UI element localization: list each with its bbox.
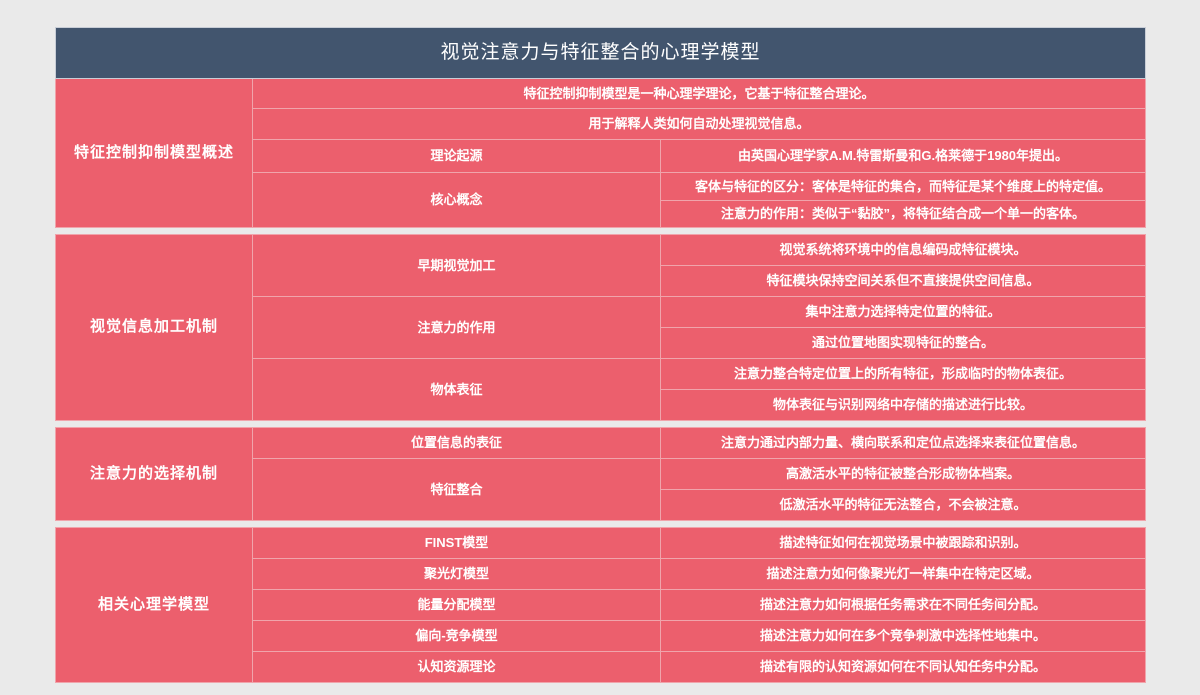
section-1-subtopic-1: 注意力的作用 xyxy=(253,297,661,359)
table-row: 视觉信息加工机制 早期视觉加工 视觉系统将环境中的信息编码成特征模块。 xyxy=(56,235,1146,266)
section-gap xyxy=(56,228,1146,235)
section-1-subtopic-0: 早期视觉加工 xyxy=(253,235,661,297)
section-3-subtopic-0: FINST模型 xyxy=(253,528,661,559)
section-0-row-0-desc: 特征控制抑制模型是一种心理学理论，它基于特征整合理论。 xyxy=(253,79,1146,109)
table-title-row: 视觉注意力与特征整合的心理学模型 xyxy=(56,28,1146,79)
section-1-row-0-desc-1: 特征模块保持空间关系但不直接提供空间信息。 xyxy=(661,266,1146,297)
section-0-row-3-desc-1: 注意力的作用：类似于“黏胶”，将特征结合成一个单一的客体。 xyxy=(661,201,1146,228)
section-category-2: 注意力的选择机制 xyxy=(56,428,253,521)
section-2-subtopic-1: 特征整合 xyxy=(253,459,661,521)
table-title: 视觉注意力与特征整合的心理学模型 xyxy=(56,28,1146,79)
section-1-row-1-desc-0: 集中注意力选择特定位置的特征。 xyxy=(661,297,1146,328)
table-row: 相关心理学模型 FINST模型 描述特征如何在视觉场景中被跟踪和识别。 xyxy=(56,528,1146,559)
psychology-model-table-container: 视觉注意力与特征整合的心理学模型 特征控制抑制模型概述 特征控制抑制模型是一种心… xyxy=(55,27,1145,663)
section-2-row-1-desc-0: 高激活水平的特征被整合形成物体档案。 xyxy=(661,459,1146,490)
psychology-model-table: 视觉注意力与特征整合的心理学模型 特征控制抑制模型概述 特征控制抑制模型是一种心… xyxy=(55,27,1146,683)
section-3-row-1-desc-0: 描述注意力如何像聚光灯一样集中在特定区域。 xyxy=(661,559,1146,590)
section-0-row-3-desc-0: 客体与特征的区分：客体是特征的集合，而特征是某个维度上的特定值。 xyxy=(661,173,1146,201)
section-3-subtopic-3: 偏向-竞争模型 xyxy=(253,621,661,652)
section-gap xyxy=(56,521,1146,528)
section-3-subtopic-1: 聚光灯模型 xyxy=(253,559,661,590)
table-body: 视觉注意力与特征整合的心理学模型 特征控制抑制模型概述 特征控制抑制模型是一种心… xyxy=(56,28,1146,683)
section-category-0: 特征控制抑制模型概述 xyxy=(56,79,253,228)
section-category-3: 相关心理学模型 xyxy=(56,528,253,683)
section-1-row-1-desc-1: 通过位置地图实现特征的整合。 xyxy=(661,328,1146,359)
section-3-row-3-desc-0: 描述注意力如何在多个竞争刺激中选择性地集中。 xyxy=(661,621,1146,652)
section-gap xyxy=(56,421,1146,428)
table-row: 特征控制抑制模型概述 特征控制抑制模型是一种心理学理论，它基于特征整合理论。 xyxy=(56,79,1146,109)
section-0-row-1-desc: 用于解释人类如何自动处理视觉信息。 xyxy=(253,109,1146,140)
section-3-subtopic-4: 认知资源理论 xyxy=(253,652,661,683)
section-0-row-2-desc-0: 由英国心理学家A.M.特雷斯曼和G.格莱德于1980年提出。 xyxy=(661,140,1146,173)
section-0-subtopic-0: 理论起源 xyxy=(253,140,661,173)
section-2-row-1-desc-1: 低激活水平的特征无法整合，不会被注意。 xyxy=(661,490,1146,521)
section-1-row-2-desc-0: 注意力整合特定位置上的所有特征，形成临时的物体表征。 xyxy=(661,359,1146,390)
section-2-row-0-desc-0: 注意力通过内部力量、横向联系和定位点选择来表征位置信息。 xyxy=(661,428,1146,459)
table-row: 注意力的选择机制 位置信息的表征 注意力通过内部力量、横向联系和定位点选择来表征… xyxy=(56,428,1146,459)
section-3-subtopic-2: 能量分配模型 xyxy=(253,590,661,621)
section-1-row-2-desc-1: 物体表征与识别网络中存储的描述进行比较。 xyxy=(661,390,1146,421)
section-category-1: 视觉信息加工机制 xyxy=(56,235,253,421)
section-2-subtopic-0: 位置信息的表征 xyxy=(253,428,661,459)
section-3-row-4-desc-0: 描述有限的认知资源如何在不同认知任务中分配。 xyxy=(661,652,1146,683)
section-1-subtopic-2: 物体表征 xyxy=(253,359,661,421)
section-1-row-0-desc-0: 视觉系统将环境中的信息编码成特征模块。 xyxy=(661,235,1146,266)
section-0-subtopic-1: 核心概念 xyxy=(253,173,661,228)
section-3-row-0-desc-0: 描述特征如何在视觉场景中被跟踪和识别。 xyxy=(661,528,1146,559)
section-3-row-2-desc-0: 描述注意力如何根据任务需求在不同任务间分配。 xyxy=(661,590,1146,621)
